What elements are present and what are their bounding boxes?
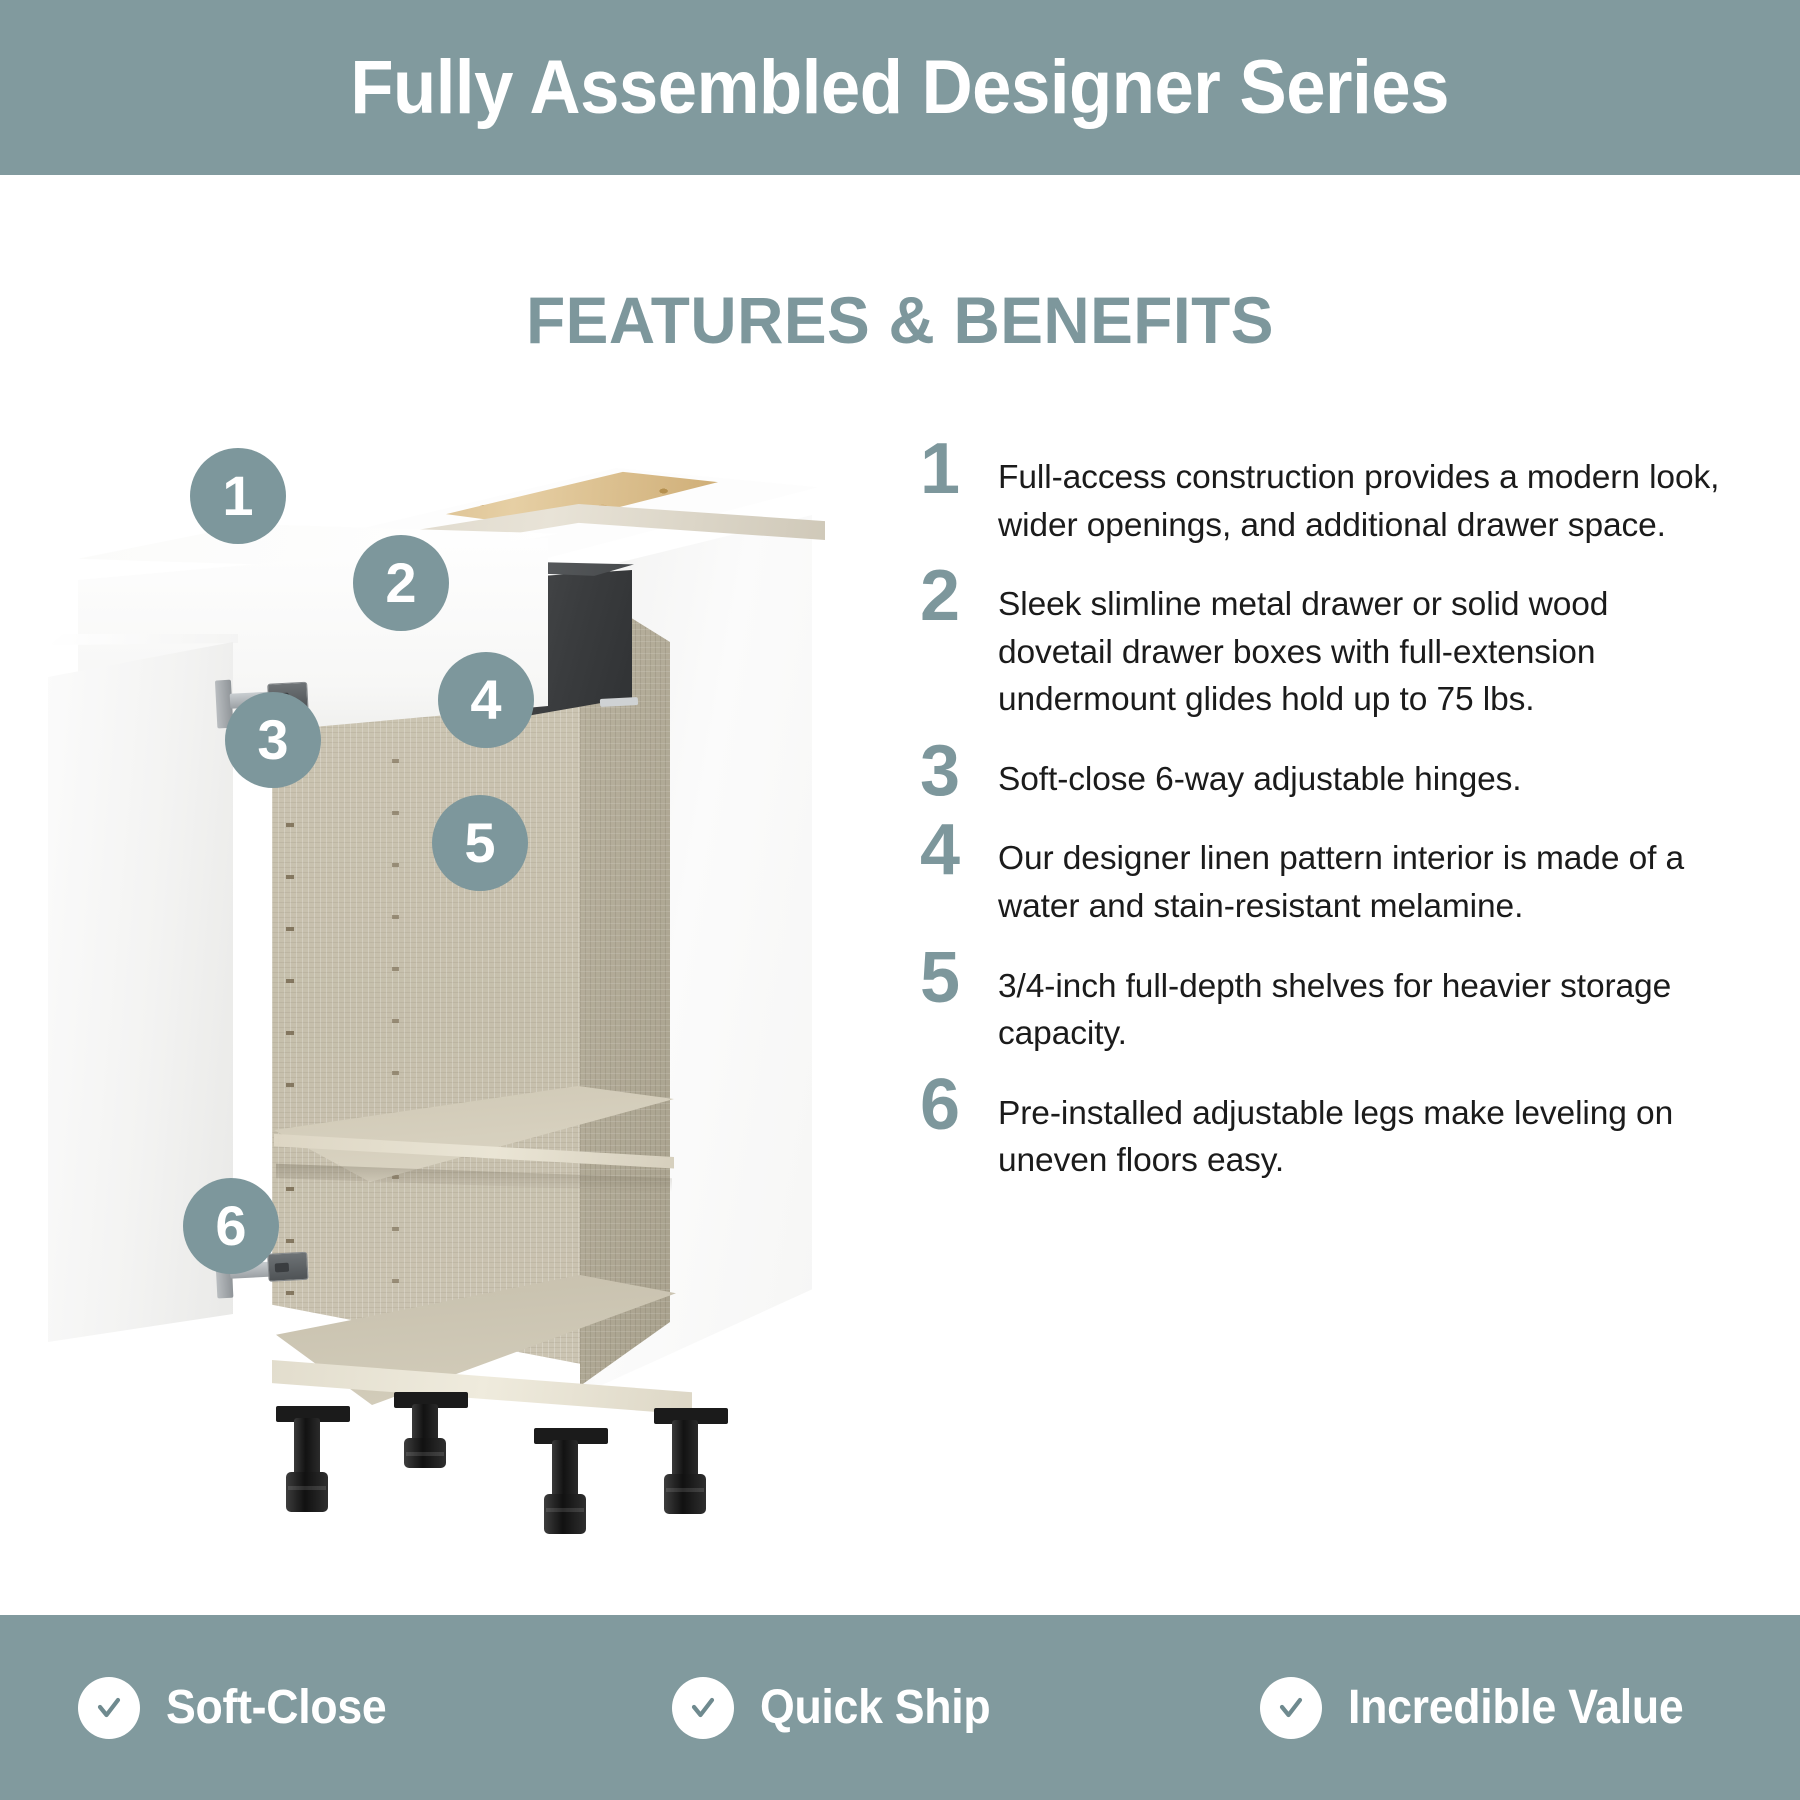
feature-number-6: 6 (920, 1076, 998, 1135)
feature-text-4: Our designer linen pattern interior is m… (998, 821, 1720, 930)
feature-item-4: 4 Our designer linen pattern interior is… (920, 821, 1720, 930)
callout-badge-4: 4 (438, 652, 534, 748)
callout-badge-3: 3 (225, 692, 321, 788)
feature-text-5: 3/4-inch full-depth shelves for heavier … (998, 949, 1720, 1058)
check-icon (672, 1677, 734, 1739)
header-title: Fully Assembled Designer Series (351, 50, 1450, 126)
leg-foot (286, 1472, 328, 1512)
feature-item-2: 2 Sleek slimline metal drawer or solid w… (920, 567, 1720, 724)
feature-item-3: 3 Soft-close 6-way adjustable hinges. (920, 742, 1720, 804)
feature-number-5: 5 (920, 949, 998, 1008)
leg-post (294, 1418, 320, 1480)
leg-foot (664, 1474, 706, 1514)
callout-badge-5: 5 (432, 795, 528, 891)
callout-badge-2: 2 (353, 535, 449, 631)
feature-text-1: Full-access construction provides a mode… (998, 440, 1720, 549)
footer-badge-quick-ship: Quick Ship (672, 1677, 1008, 1739)
header-bar: Fully Assembled Designer Series (0, 0, 1800, 175)
footer-badge-label: Soft-Close (166, 1680, 386, 1735)
hinge-cup (267, 1252, 308, 1282)
leg-post (672, 1420, 698, 1482)
feature-text-3: Soft-close 6-way adjustable hinges. (998, 742, 1720, 804)
check-icon (1260, 1677, 1322, 1739)
leg-post (552, 1440, 578, 1502)
leg-foot (404, 1438, 446, 1468)
callout-badge-1: 1 (190, 448, 286, 544)
feature-number-3: 3 (920, 742, 998, 801)
main-content: 1 2 3 4 5 6 1 Full-access construction p… (0, 400, 1800, 1580)
feature-item-1: 1 Full-access construction provides a mo… (920, 440, 1720, 549)
check-icon (78, 1677, 140, 1739)
footer-badge-label: Quick Ship (760, 1680, 990, 1735)
footer-badge-incredible-value: Incredible Value (1260, 1677, 1709, 1739)
cabinet-illustration: 1 2 3 4 5 6 (40, 420, 850, 1580)
feature-number-4: 4 (920, 821, 998, 880)
feature-number-1: 1 (920, 440, 998, 499)
feature-text-6: Pre-installed adjustable legs make level… (998, 1076, 1720, 1185)
feature-text-2: Sleek slimline metal drawer or solid woo… (998, 567, 1720, 724)
feature-item-6: 6 Pre-installed adjustable legs make lev… (920, 1076, 1720, 1185)
leg-foot (544, 1494, 586, 1534)
callout-badge-6: 6 (183, 1178, 279, 1274)
footer-bar: Soft-Close Quick Ship Incredible Value (0, 1615, 1800, 1800)
feature-item-5: 5 3/4-inch full-depth shelves for heavie… (920, 949, 1720, 1058)
feature-number-2: 2 (920, 567, 998, 626)
footer-badge-label: Incredible Value (1348, 1680, 1683, 1735)
linen-interior-side-panel (580, 586, 670, 1386)
feature-list: 1 Full-access construction provides a mo… (920, 440, 1720, 1203)
section-title: FEATURES & BENEFITS (27, 282, 1773, 358)
footer-badge-soft-close: Soft-Close (78, 1677, 403, 1739)
